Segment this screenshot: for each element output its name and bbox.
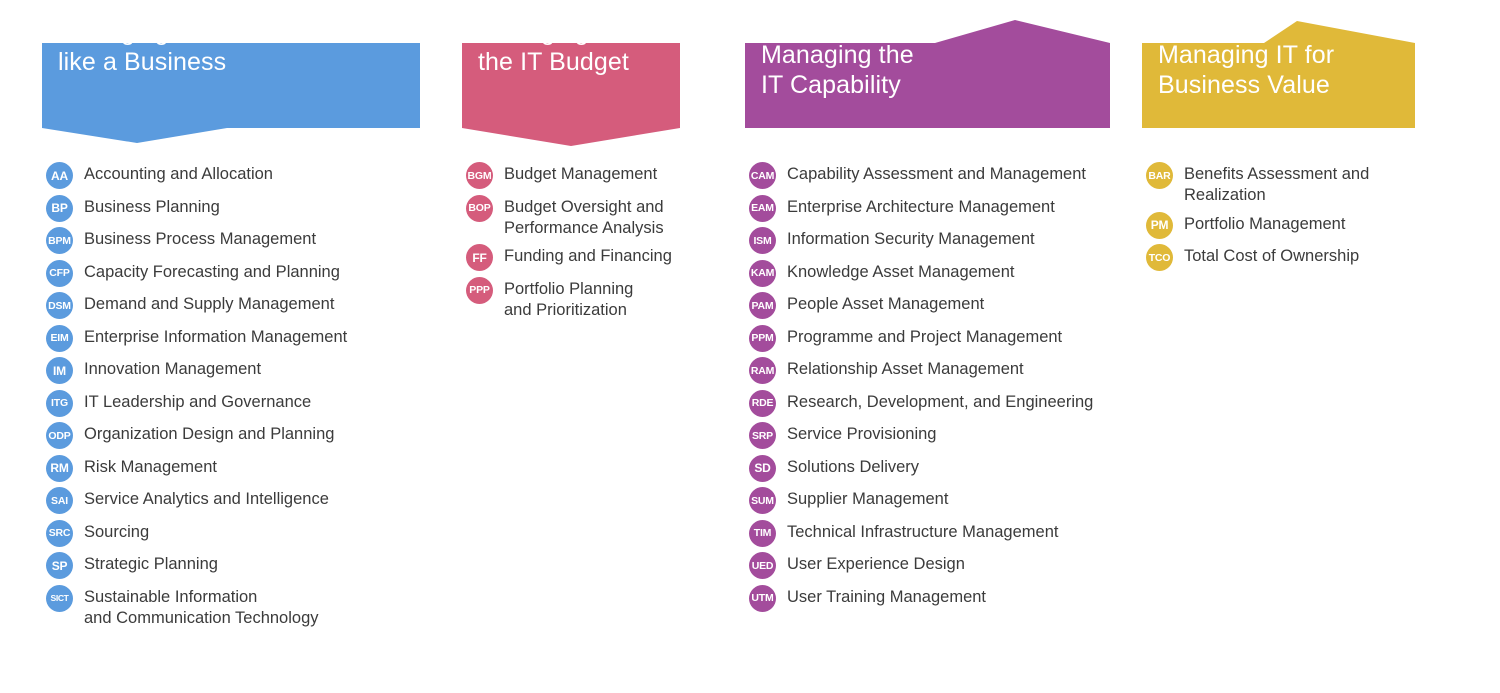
column-managing-the-it-budget: Managing the IT Budget BGM Budget Manage… [462,0,680,148]
banner-title: Managing IT for Business Value [1158,40,1334,100]
capability-list: BGM Budget Management BOP Budget Oversig… [466,163,672,327]
banner-title: Managing the IT Capability [761,40,914,100]
list-item[interactable]: SICT Sustainable Information and Communi… [46,586,347,629]
list-item[interactable]: RAM Relationship Asset Management [749,358,1093,384]
badge-im: IM [46,357,73,384]
banner-title: Managing IT like a Business [58,17,226,77]
list-item[interactable]: BAR Benefits Assessment and Realization [1146,163,1415,206]
list-item-label: Programme and Project Management [787,326,1062,348]
list-item[interactable]: ODP Organization Design and Planning [46,423,347,449]
list-item[interactable]: ITG IT Leadership and Governance [46,391,347,417]
list-item[interactable]: SAI Service Analytics and Intelligence [46,488,347,514]
banner-managing-it-for-business-value: Managing IT for Business Value [1142,0,1415,130]
list-item[interactable]: SP Strategic Planning [46,553,347,579]
badge-sd: SD [749,455,776,482]
list-item-label: Relationship Asset Management [787,358,1024,380]
list-item[interactable]: IM Innovation Management [46,358,347,384]
badge-eim: EIM [46,325,73,352]
badge-bgm: BGM [466,162,493,189]
badge-itg: ITG [46,390,73,417]
list-item-label: User Training Management [787,586,986,608]
capability-list: BAR Benefits Assessment and Realization … [1146,163,1415,278]
badge-sum: SUM [749,487,776,514]
list-item-label: Risk Management [84,456,217,478]
list-item[interactable]: UTM User Training Management [749,586,1093,612]
capability-list: AA Accounting and Allocation BP Business… [46,163,347,635]
badge-bar: BAR [1146,162,1173,189]
list-item-label: Sustainable Information and Communicatio… [84,586,319,629]
list-item-label: Strategic Planning [84,553,218,575]
list-item[interactable]: BGM Budget Management [466,163,672,189]
badge-sai: SAI [46,487,73,514]
badge-ppp: PPP [466,277,493,304]
badge-cam: CAM [749,162,776,189]
badge-srp: SRP [749,422,776,449]
list-item-label: Service Analytics and Intelligence [84,488,329,510]
banner-title: Managing the IT Budget [478,17,629,77]
badge-ism: ISM [749,227,776,254]
list-item[interactable]: PM Portfolio Management [1146,213,1415,239]
list-item[interactable]: PPM Programme and Project Management [749,326,1093,352]
list-item[interactable]: BPM Business Process Management [46,228,347,254]
list-item-label: Research, Development, and Engineering [787,391,1093,413]
list-item[interactable]: SRC Sourcing [46,521,347,547]
list-item[interactable]: DSM Demand and Supply Management [46,293,347,319]
list-item-label: Budget Management [504,163,657,185]
list-item-label: Solutions Delivery [787,456,919,478]
list-item[interactable]: SRP Service Provisioning [749,423,1093,449]
badge-tco: TCO [1146,244,1173,271]
list-item-label: Accounting and Allocation [84,163,273,185]
badge-src: SRC [46,520,73,547]
list-item[interactable]: RDE Research, Development, and Engineeri… [749,391,1093,417]
badge-sict: SICT [46,585,73,612]
column-managing-it-for-business-value: Managing IT for Business Value BAR Benef… [1142,0,1415,130]
capability-board: Managing IT like a Business AA Accountin… [0,0,1500,693]
badge-rm: RM [46,455,73,482]
badge-sp: SP [46,552,73,579]
list-item[interactable]: CFP Capacity Forecasting and Planning [46,261,347,287]
badge-pm: PM [1146,212,1173,239]
badge-rde: RDE [749,390,776,417]
list-item-label: Technical Infrastructure Management [787,521,1058,543]
list-item-label: Capacity Forecasting and Planning [84,261,340,283]
badge-aa: AA [46,162,73,189]
column-managing-it-like-a-business: Managing IT like a Business AA Accountin… [42,0,420,146]
list-item[interactable]: UED User Experience Design [749,553,1093,579]
list-item[interactable]: EIM Enterprise Information Management [46,326,347,352]
list-item[interactable]: CAM Capability Assessment and Management [749,163,1093,189]
list-item-label: Supplier Management [787,488,948,510]
list-item[interactable]: RM Risk Management [46,456,347,482]
badge-cfp: CFP [46,260,73,287]
list-item[interactable]: EAM Enterprise Architecture Management [749,196,1093,222]
badge-ppm: PPM [749,325,776,352]
list-item[interactable]: FF Funding and Financing [466,245,672,271]
list-item-label: Benefits Assessment and Realization [1184,163,1415,206]
list-item-label: Business Process Management [84,228,316,250]
badge-kam: KAM [749,260,776,287]
badge-bop: BOP [466,195,493,222]
list-item-label: People Asset Management [787,293,984,315]
banner-managing-the-it-budget: Managing the IT Budget [462,0,680,148]
list-item-label: Innovation Management [84,358,261,380]
column-managing-the-it-capability: Managing the IT Capability CAM Capabilit… [745,0,1110,130]
list-item[interactable]: SUM Supplier Management [749,488,1093,514]
list-item-label: Demand and Supply Management [84,293,334,315]
list-item[interactable]: TCO Total Cost of Ownership [1146,245,1415,271]
badge-bpm: BPM [46,227,73,254]
badge-utm: UTM [749,585,776,612]
list-item[interactable]: BOP Budget Oversight and Performance Ana… [466,196,672,239]
list-item[interactable]: AA Accounting and Allocation [46,163,347,189]
list-item-label: Knowledge Asset Management [787,261,1014,283]
list-item-label: Budget Oversight and Performance Analysi… [504,196,664,239]
badge-tim: TIM [749,520,776,547]
capability-list: CAM Capability Assessment and Management… [749,163,1093,618]
list-item-label: Service Provisioning [787,423,936,445]
badge-eam: EAM [749,195,776,222]
list-item[interactable]: KAM Knowledge Asset Management [749,261,1093,287]
list-item-label: Total Cost of Ownership [1184,245,1359,267]
list-item-label: User Experience Design [787,553,965,575]
list-item-label: Organization Design and Planning [84,423,334,445]
badge-pam: PAM [749,292,776,319]
list-item[interactable]: PPP Portfolio Planning and Prioritizatio… [466,278,672,321]
list-item-label: Sourcing [84,521,149,543]
badge-odp: ODP [46,422,73,449]
badge-dsm: DSM [46,292,73,319]
list-item-label: Capability Assessment and Management [787,163,1086,185]
banner-managing-the-it-capability: Managing the IT Capability [745,0,1110,130]
list-item-label: Portfolio Planning and Prioritization [504,278,633,321]
list-item-label: Enterprise Architecture Management [787,196,1055,218]
list-item[interactable]: TIM Technical Infrastructure Management [749,521,1093,547]
badge-ff: FF [466,244,493,271]
list-item-label: IT Leadership and Governance [84,391,311,413]
list-item-label: Funding and Financing [504,245,672,267]
list-item[interactable]: ISM Information Security Management [749,228,1093,254]
badge-bp: BP [46,195,73,222]
list-item-label: Business Planning [84,196,220,218]
list-item-label: Enterprise Information Management [84,326,347,348]
list-item[interactable]: SD Solutions Delivery [749,456,1093,482]
banner-managing-it-like-a-business: Managing IT like a Business [42,0,420,146]
list-item-label: Information Security Management [787,228,1035,250]
list-item-label: Portfolio Management [1184,213,1345,235]
badge-ram: RAM [749,357,776,384]
list-item[interactable]: PAM People Asset Management [749,293,1093,319]
list-item[interactable]: BP Business Planning [46,196,347,222]
badge-ued: UED [749,552,776,579]
